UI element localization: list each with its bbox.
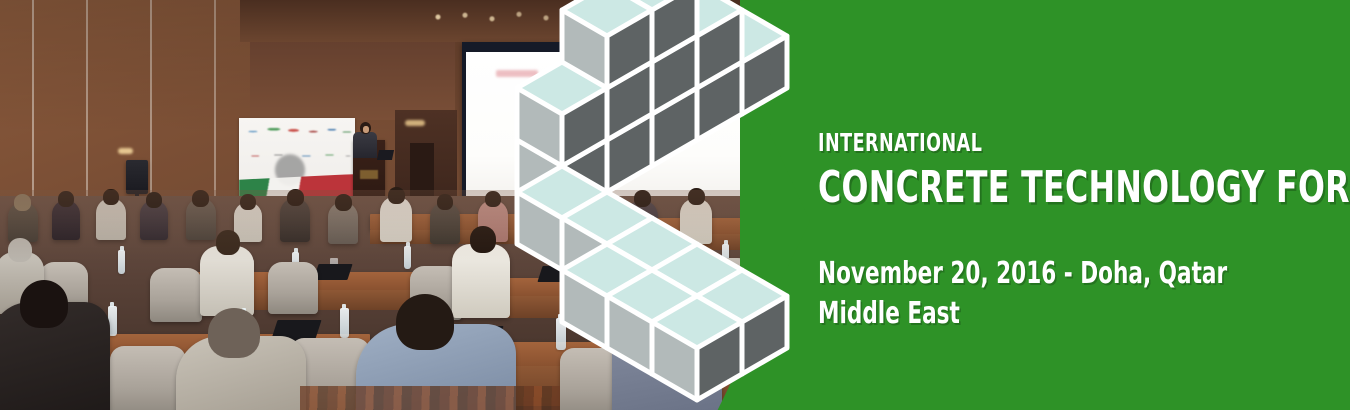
attendee	[452, 244, 510, 318]
chair	[110, 346, 186, 410]
attendee-head	[437, 194, 453, 210]
attendee-head	[8, 238, 32, 262]
water-glass	[694, 254, 702, 265]
sponsor-logos-row-1	[239, 122, 355, 146]
loudspeaker	[126, 160, 148, 194]
sponsor-backdrop	[239, 118, 355, 200]
water-bottle	[404, 246, 411, 269]
podium-plaque	[360, 170, 378, 179]
water-bottle	[340, 308, 349, 338]
attendee-head	[20, 280, 68, 328]
attendee-head	[103, 189, 119, 205]
ceiling-lights	[420, 8, 600, 26]
attendee-head	[335, 194, 352, 211]
padfolio	[313, 264, 352, 280]
speaker-face	[363, 126, 369, 133]
attendee-head	[640, 268, 686, 312]
attendee-head	[470, 226, 496, 253]
attendee-head	[192, 190, 209, 207]
slide-graphic-blur	[660, 56, 674, 68]
water-bottle	[560, 242, 567, 264]
attendee-head	[531, 189, 548, 206]
attendee-head	[216, 230, 240, 255]
attendee-head	[14, 194, 31, 211]
slide-text-blur	[496, 70, 538, 77]
chair	[268, 262, 318, 314]
chair	[150, 268, 202, 322]
wall-sconce	[118, 148, 133, 154]
attendee-head	[58, 191, 74, 207]
eyebrow-text: INTERNATIONAL	[818, 130, 1224, 155]
slide-text-blur	[590, 70, 628, 78]
attendee-head	[634, 232, 659, 257]
attendee-head	[583, 194, 599, 210]
date-location-text: November 20, 2016 - Doha, Qatar	[818, 254, 1234, 294]
conference-hall-photo	[0, 0, 760, 410]
speaker-torso	[353, 132, 377, 158]
attendee-head	[485, 191, 501, 207]
attendee-head	[287, 189, 304, 206]
attendee-head	[396, 294, 454, 350]
attendee-head	[634, 190, 651, 207]
attendee-head	[388, 187, 405, 204]
attendee-head	[146, 192, 162, 208]
chair	[568, 260, 618, 312]
water-bottle	[556, 318, 566, 350]
attendee-head	[240, 194, 256, 210]
water-bottle	[118, 250, 125, 274]
banner-text-block: INTERNATIONAL CONCRETE TECHNOLOGY FORUM …	[818, 130, 1338, 333]
door-light	[405, 120, 425, 126]
attendee	[200, 246, 254, 316]
page-title: CONCRETE TECHNOLOGY FORUM	[818, 166, 1234, 210]
attendee-head	[688, 188, 705, 205]
attendee-head	[208, 308, 260, 358]
audience-area	[0, 196, 760, 410]
region-text: Middle East	[818, 294, 1234, 334]
carpet	[300, 386, 560, 410]
event-banner: INTERNATIONAL CONCRETE TECHNOLOGY FORUM …	[0, 0, 1350, 410]
laptop	[377, 150, 394, 160]
